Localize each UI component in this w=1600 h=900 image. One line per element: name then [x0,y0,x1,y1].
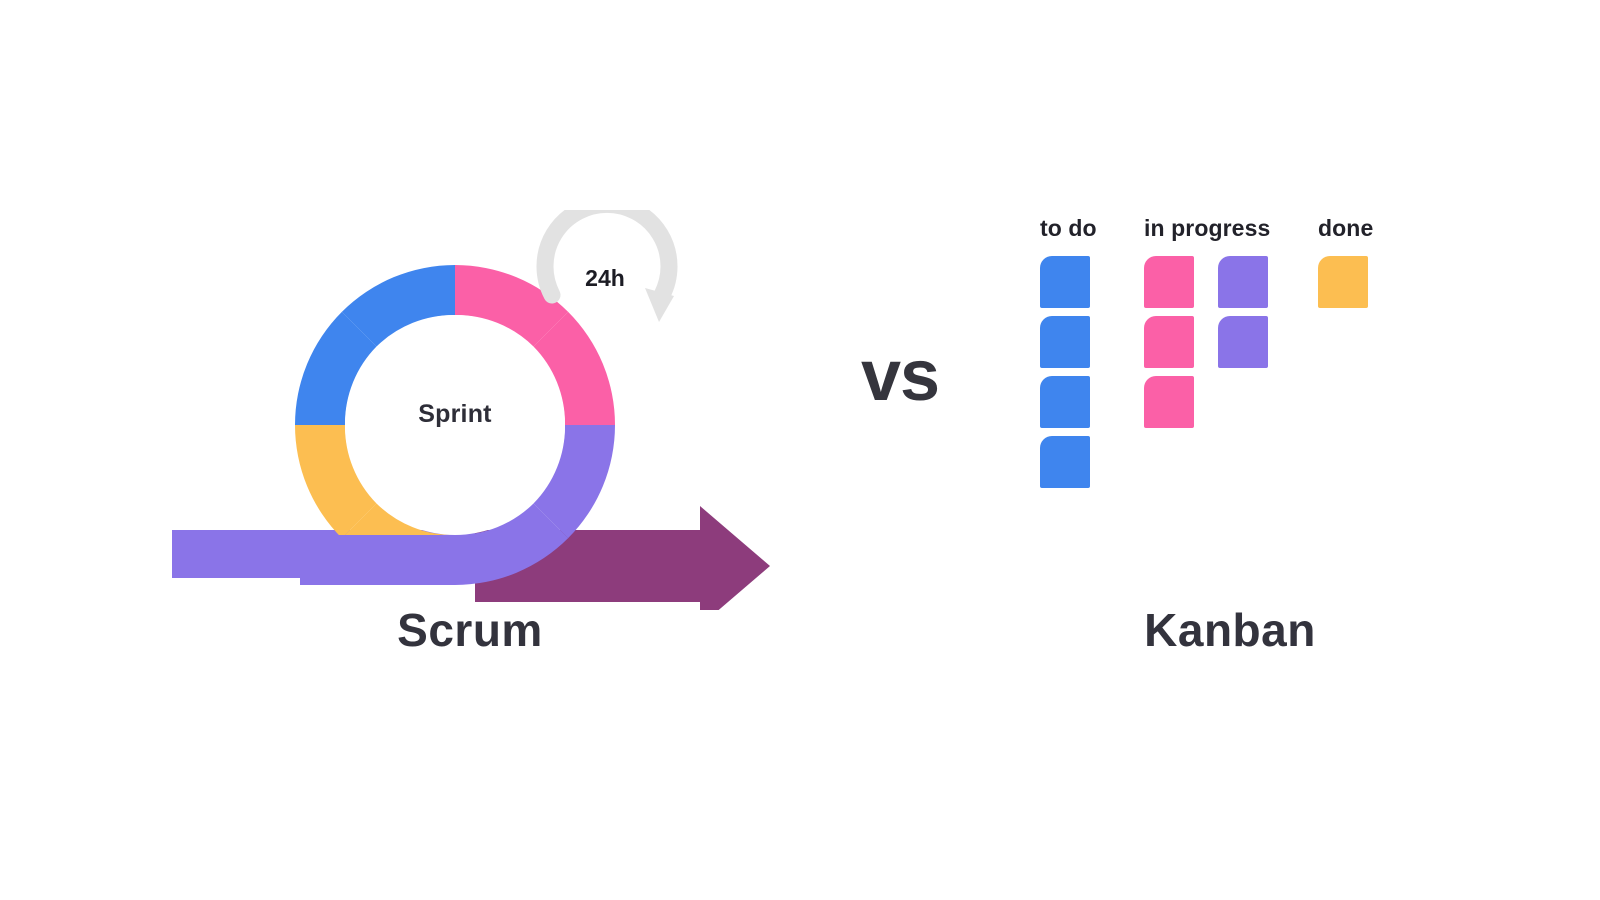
kanban-card-stack [1218,256,1268,428]
kanban-card[interactable] [1318,256,1368,308]
kanban-card[interactable] [1040,256,1090,308]
kanban-card-stacks-in-progress [1144,256,1318,428]
kanban-card[interactable] [1144,316,1194,368]
kanban-column-header-in-progress: in progress [1144,215,1318,242]
cycle-duration-label: 24h [555,265,655,292]
kanban-column-to-do: to do [1040,215,1144,488]
kanban-column-header-done: done [1318,215,1428,242]
kanban-card[interactable] [1040,316,1090,368]
kanban-column-done: done [1318,215,1428,308]
scrum-illustration: Sprint 24h [0,0,800,900]
kanban-card[interactable] [1144,256,1194,308]
diagram-canvas: Sprint 24h vs to do in progre [0,0,1600,900]
scrum-spiral-tail [300,535,455,585]
kanban-card-stacks-to-do [1040,256,1144,488]
sprint-center-label: Sprint [355,400,555,429]
kanban-card[interactable] [1040,376,1090,428]
kanban-board: to do in progress [1040,215,1428,488]
scrum-title: Scrum [0,603,940,657]
kanban-card[interactable] [1218,316,1268,368]
kanban-illustration: to do in progress [1040,215,1428,488]
kanban-card-stack [1144,256,1194,428]
kanban-column-header-to-do: to do [1040,215,1144,242]
kanban-card[interactable] [1144,376,1194,428]
versus-separator: vs [820,335,980,417]
kanban-card-stack [1040,256,1090,488]
kanban-card-stacks-done [1318,256,1428,308]
kanban-title: Kanban [940,603,1520,657]
kanban-card-stack [1318,256,1368,308]
kanban-column-in-progress: in progress [1144,215,1318,428]
kanban-card[interactable] [1040,436,1090,488]
kanban-card[interactable] [1218,256,1268,308]
